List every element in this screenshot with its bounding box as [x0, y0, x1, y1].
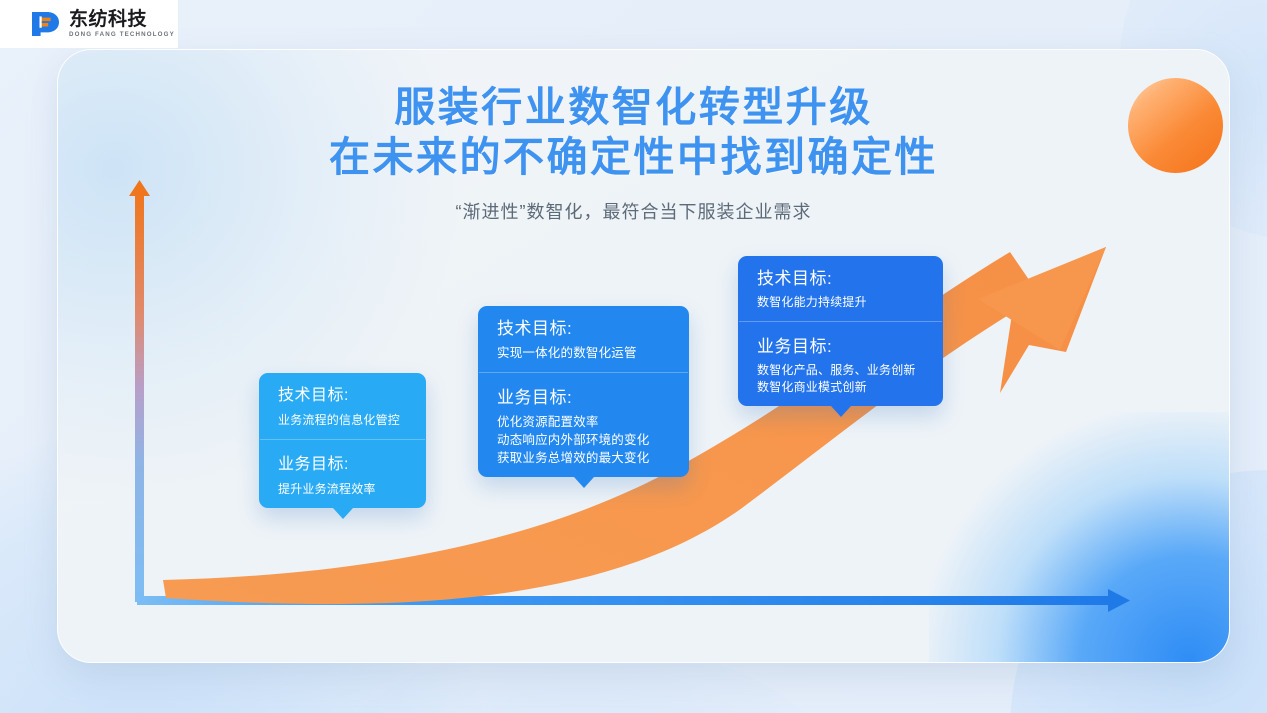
stage-2-tech-section: 技术目标: 实现一体化的数智化运管: [478, 306, 689, 372]
brand-bar: 东纺科技 DONG FANG TECHNOLOGY: [0, 0, 178, 48]
stage-2-biz-item-2: 动态响应内外部环境的变化: [497, 431, 670, 449]
stage-2-biz-item-1: 优化资源配置效率: [497, 413, 670, 431]
stage-3-biz-item-2: 数智化商业模式创新: [757, 379, 924, 396]
stage-2-biz-label: 业务目标:: [497, 386, 670, 409]
stage-3-biz-item-1: 数智化产品、服务、业务创新: [757, 362, 924, 379]
stage-card-3[interactable]: 技术目标: 数智化能力持续提升 业务目标: 数智化产品、服务、业务创新 数智化商…: [738, 256, 943, 406]
stage-3-biz-section: 业务目标: 数智化产品、服务、业务创新 数智化商业模式创新: [738, 322, 943, 406]
stage-2-pointer-icon: [574, 477, 594, 488]
stage-2-tech-label: 技术目标:: [497, 317, 670, 340]
stage-2-biz-section: 业务目标: 优化资源配置效率 动态响应内外部环境的变化 获取业务总增效的最大变化: [478, 373, 689, 477]
stage-1-biz-label: 业务目标:: [278, 453, 407, 476]
brand-text: 东纺科技 DONG FANG TECHNOLOGY: [69, 10, 175, 38]
stage-3-biz-label: 业务目标:: [757, 335, 924, 358]
stage-3-tech-item: 数智化能力持续提升: [757, 294, 924, 311]
stage-2-tech-item: 实现一体化的数智化运管: [497, 344, 670, 362]
stage-1-tech-item: 业务流程的信息化管控: [278, 411, 407, 429]
page-title-line-2: 在未来的不确定性中找到确定性: [0, 132, 1267, 182]
page-title-line-1: 服装行业数智化转型升级: [0, 82, 1267, 132]
stage-3-tech-label: 技术目标:: [757, 267, 924, 290]
page-subtitle: “渐进性”数智化，最符合当下服装企业需求: [0, 198, 1267, 224]
stage-3-pointer-icon: [831, 406, 851, 417]
dongfang-logo-icon: [30, 10, 61, 38]
stage-card-2[interactable]: 技术目标: 实现一体化的数智化运管 业务目标: 优化资源配置效率 动态响应内外部…: [478, 306, 689, 477]
stage-1-pointer-icon: [333, 508, 353, 519]
brand-name: 东纺科技: [69, 10, 175, 29]
stage-1-tech-section: 技术目标: 业务流程的信息化管控: [259, 373, 426, 439]
slide-root: 东纺科技 DONG FANG TECHNOLOGY 服装行业数智化转型升级 在未…: [0, 0, 1267, 713]
stage-1-biz-section: 业务目标: 提升业务流程效率: [259, 440, 426, 508]
title-block: 服装行业数智化转型升级 在未来的不确定性中找到确定性 “渐进性”数智化，最符合当…: [0, 82, 1267, 224]
stage-1-tech-label: 技术目标:: [278, 384, 407, 407]
stage-1-biz-item: 提升业务流程效率: [278, 480, 407, 498]
stage-2-biz-item-3: 获取业务总增效的最大变化: [497, 449, 670, 467]
stage-3-tech-section: 技术目标: 数智化能力持续提升: [738, 256, 943, 321]
brand-tagline: DONG FANG TECHNOLOGY: [69, 32, 175, 38]
stage-card-1[interactable]: 技术目标: 业务流程的信息化管控 业务目标: 提升业务流程效率: [259, 373, 426, 508]
